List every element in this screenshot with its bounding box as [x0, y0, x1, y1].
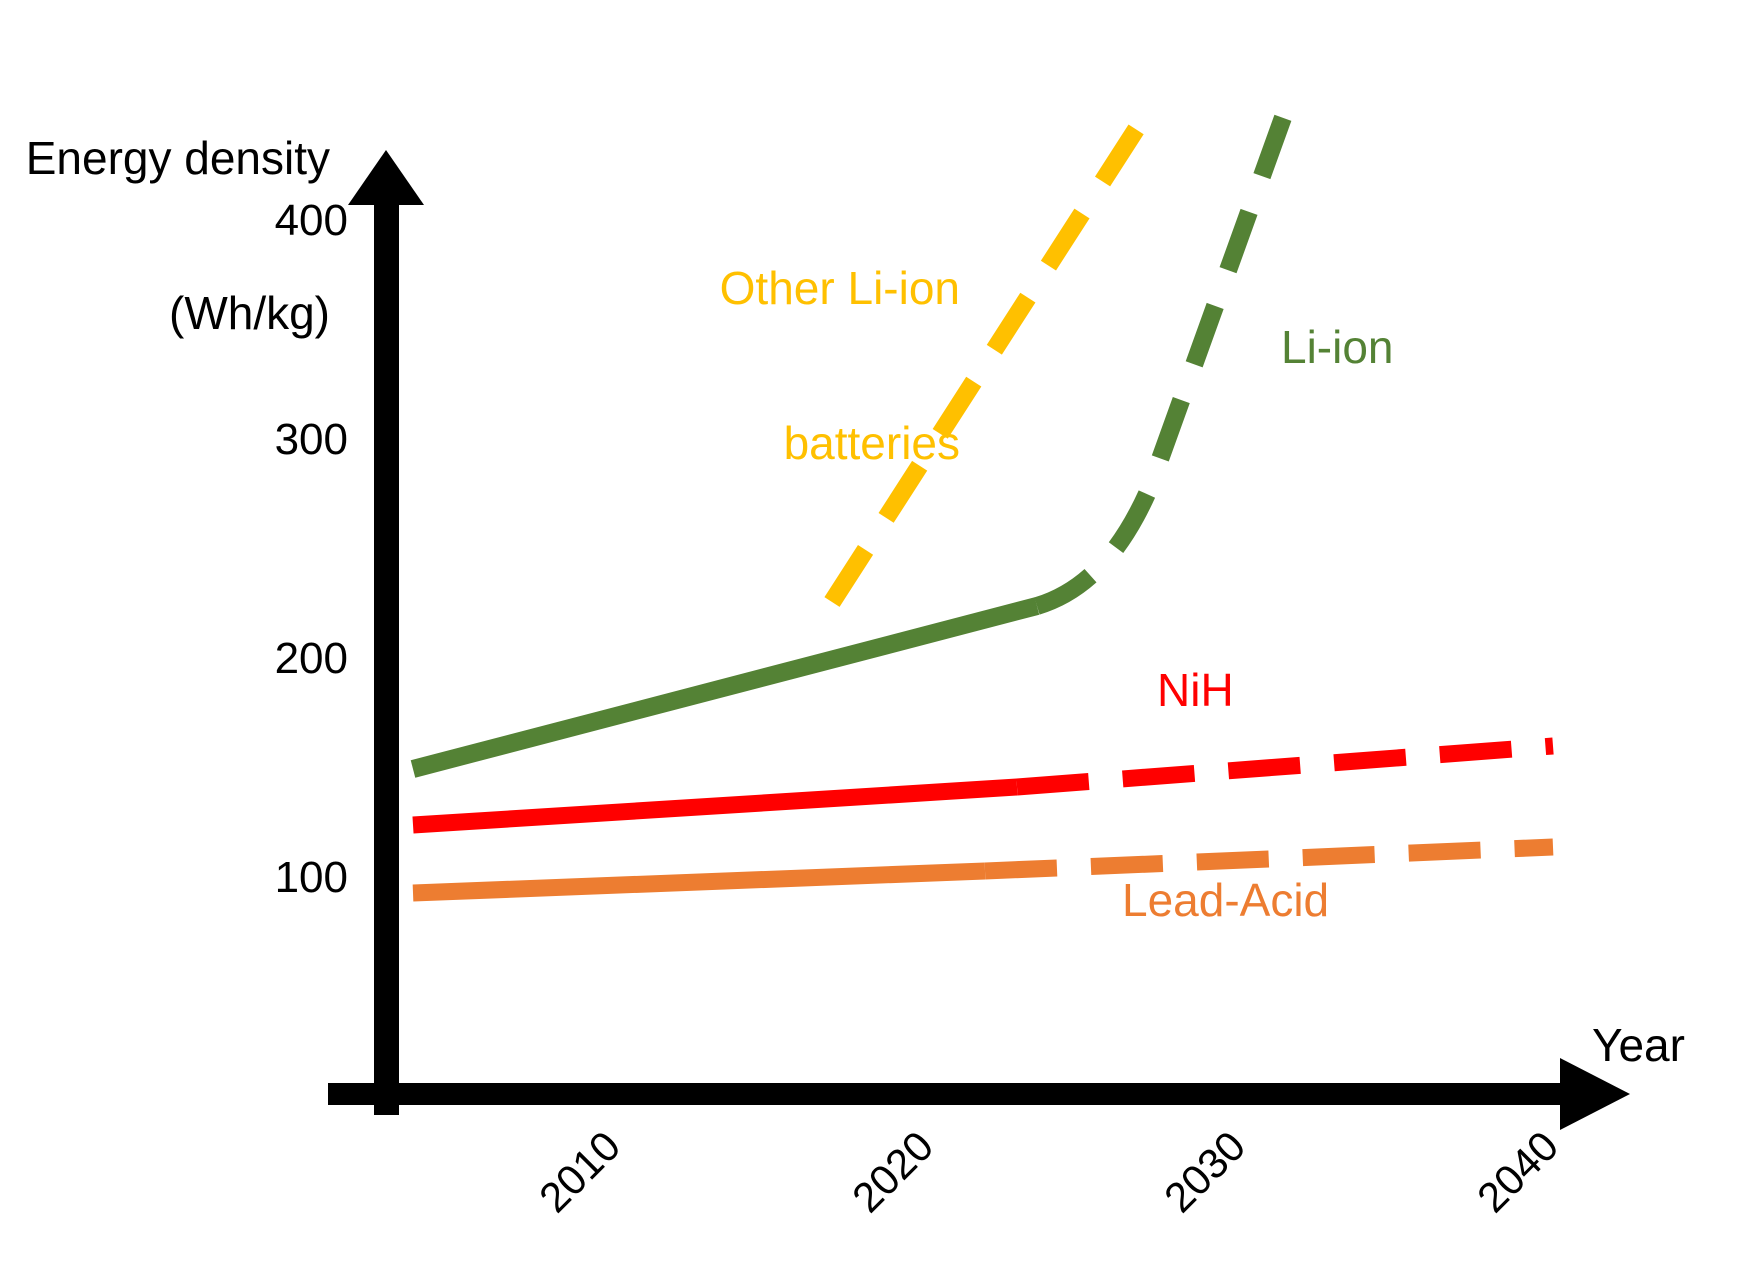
series-label-other-liion-line1: Other Li-ion: [620, 263, 960, 315]
y-tick-400: 400: [228, 196, 348, 245]
y-tick-200: 200: [228, 634, 348, 683]
series-label-lead-acid: Lead-Acid: [1122, 875, 1329, 927]
chart-canvas: Energy density (Wh/kg) 400 300 200 100 2…: [0, 0, 1739, 1261]
y-axis-title-line2: (Wh/kg): [20, 288, 330, 340]
y-axis-arrowhead: [348, 150, 424, 205]
series-nih: [413, 746, 1553, 825]
liion-solid-line: [413, 606, 1037, 769]
series-lead-acid: [413, 847, 1553, 893]
series-label-other-liion-line2: batteries: [620, 418, 960, 470]
y-axis: [348, 150, 424, 1115]
x-axis: [328, 1058, 1630, 1130]
y-axis-line: [374, 200, 399, 1115]
liion-dashed-line: [1037, 112, 1285, 606]
y-tick-100: 100: [228, 853, 348, 902]
x-axis-line: [328, 1083, 1565, 1105]
nih-solid-line: [413, 787, 1017, 825]
series-label-nih: NiH: [1157, 665, 1234, 717]
lead-acid-solid-line: [413, 871, 985, 893]
lead-acid-dashed-line: [985, 847, 1553, 871]
series-label-liion: Li-ion: [1281, 322, 1394, 374]
y-axis-title-line1: Energy density: [20, 133, 330, 185]
y-tick-300: 300: [228, 415, 348, 464]
nih-dashed-line: [1017, 746, 1553, 787]
series-label-other-liion: Other Li-ion batteries: [620, 160, 960, 572]
x-axis-title: Year: [1592, 1020, 1685, 1072]
